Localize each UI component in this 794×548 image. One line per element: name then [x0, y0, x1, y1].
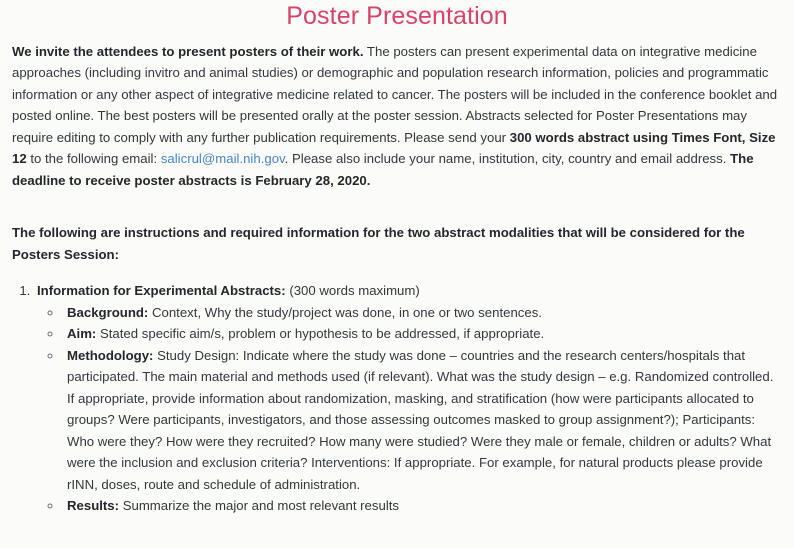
detail-text: Context, Why the study/project was done,… — [148, 305, 542, 320]
list-item: Background: Context, Why the study/proje… — [63, 302, 782, 324]
page-title: Poster Presentation — [12, 0, 782, 36]
email-link[interactable]: salicrul@mail.nih.gov — [161, 151, 285, 166]
detail-text: Study Design: Indicate where the study w… — [67, 348, 773, 492]
list-item: Results: Summarize the major and most re… — [63, 495, 782, 517]
experimental-abstract-detail-list: Background: Context, Why the study/proje… — [37, 302, 782, 517]
intro-body-part-2: to the following email: — [27, 151, 161, 166]
list-item-subtext: (300 words maximum) — [286, 283, 420, 298]
intro-body-part-3: . Please also include your name, institu… — [285, 151, 730, 166]
list-item: Methodology: Study Design: Indicate wher… — [63, 345, 782, 496]
list-item-heading: Information for Experimental Abstracts: — [37, 283, 286, 298]
detail-term: Methodology: — [67, 348, 153, 363]
intro-lead-bold: We invite the attendees to present poste… — [12, 44, 364, 59]
list-item: Aim: Stated specific aim/s, problem or h… — [63, 323, 782, 345]
detail-term: Background: — [67, 305, 148, 320]
detail-term: Aim: — [67, 326, 96, 341]
modalities-heading: The following are instructions and requi… — [12, 222, 782, 265]
detail-text: Summarize the major and most relevant re… — [119, 498, 399, 513]
intro-paragraph: We invite the attendees to present poste… — [12, 41, 782, 192]
detail-text: Stated specific aim/s, problem or hypoth… — [96, 326, 544, 341]
document-page: Poster Presentation We invite the attend… — [0, 0, 794, 548]
abstract-modalities-list: Information for Experimental Abstracts: … — [12, 280, 782, 517]
detail-term: Results: — [67, 498, 119, 513]
list-item: Information for Experimental Abstracts: … — [34, 280, 782, 517]
